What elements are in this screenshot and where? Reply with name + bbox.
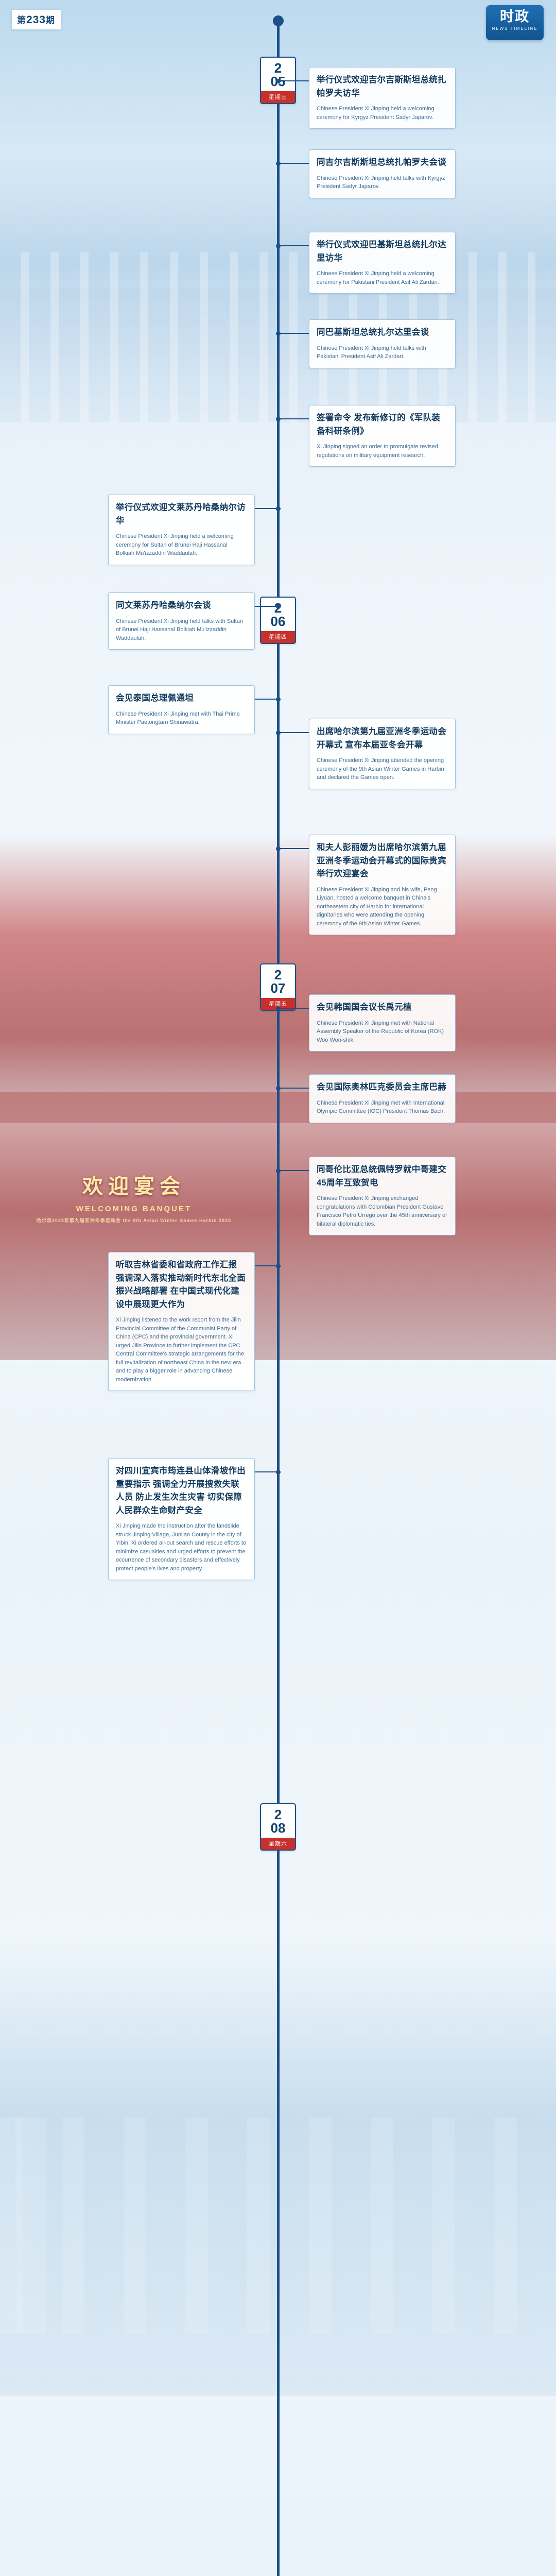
- event-title-en: Chinese President Xi Jinping held a welc…: [116, 532, 247, 558]
- event-card: 会见泰国总理佩通坦Chinese President Xi Jinping me…: [108, 685, 255, 734]
- event-connector-dot: [276, 161, 281, 166]
- event-card: 签署命令 发布新修订的《军队装备科研条例》Xi Jinping signed a…: [309, 405, 456, 467]
- event-connector-dot: [276, 846, 281, 851]
- issue-badge: 第233期: [11, 9, 62, 30]
- event-connector: [280, 1170, 309, 1171]
- event-title-cn: 同巴基斯坦总统扎尔达里会谈: [317, 326, 448, 340]
- event-connector-dot: [276, 417, 281, 421]
- event-connector-dot: [276, 331, 281, 336]
- event-title-cn: 同文莱苏丹哈桑纳尔会谈: [116, 599, 247, 613]
- banquet-title-cn: 欢迎宴会: [21, 1170, 247, 1199]
- banquet-overlay: 欢迎宴会 WELCOMING BANQUET 哈尔滨2025年第九届亚洲冬季运动…: [21, 1170, 247, 1225]
- event-connector-dot: [276, 1006, 281, 1011]
- event-card: 举行仪式欢迎吉尔吉斯斯坦总统扎帕罗夫访华Chinese President Xi…: [309, 67, 456, 129]
- event-card: 同巴基斯坦总统扎尔达里会谈Chinese President Xi Jinpin…: [309, 319, 456, 368]
- event-title-cn: 会见韩国国会议长禹元植: [317, 1001, 448, 1014]
- date-weekday: 星期三: [261, 91, 295, 103]
- banquet-title-en: WELCOMING BANQUET: [21, 1205, 247, 1213]
- event-connector: [280, 732, 309, 733]
- event-connector: [280, 1088, 309, 1089]
- issue-prefix: 第: [17, 15, 26, 25]
- event-connector-dot: [276, 244, 281, 248]
- event-connector-dot: [276, 79, 281, 83]
- event-title-en: Chinese President Xi Jinping held a welc…: [317, 105, 448, 122]
- date-day: 07: [261, 981, 295, 995]
- date-weekday: 星期六: [261, 1838, 295, 1850]
- event-title-cn: 和夫人彭丽媛为出席哈尔滨第九届亚洲冬季运动会开幕式的国际贵宾举行欢迎宴会: [317, 841, 448, 881]
- event-card: 会见国际奥林匹克委员会主席巴赫Chinese President Xi Jinp…: [309, 1074, 456, 1123]
- event-connector-dot: [276, 604, 281, 609]
- event-title-en: Xi Jinping made the instruction after th…: [116, 1522, 247, 1573]
- event-title-en: Chinese President Xi Jinping and his wif…: [317, 886, 448, 928]
- event-card: 听取吉林省委和省政府工作汇报 强调深入落实推动新时代东北全面振兴战略部署 在中国…: [108, 1252, 255, 1391]
- event-title-en: Chinese President Xi Jinping held talks …: [317, 344, 448, 361]
- event-connector: [280, 848, 309, 849]
- brand-logo: 时政 NEWS TIMELINE: [486, 5, 544, 40]
- event-title-cn: 出席哈尔滨第九届亚洲冬季运动会开幕式 宣布本届亚冬会开幕: [317, 725, 448, 752]
- event-card: 和夫人彭丽媛为出席哈尔滨第九届亚洲冬季运动会开幕式的国际贵宾举行欢迎宴会Chin…: [309, 835, 456, 935]
- event-connector-dot: [276, 506, 281, 511]
- brand-logo-title: 时政: [486, 9, 544, 24]
- event-connector: [280, 163, 309, 164]
- event-connector: [280, 245, 309, 246]
- event-title-en: Xi Jinping listened to the work report f…: [116, 1316, 247, 1384]
- timeline-line: [277, 19, 280, 2576]
- brand-logo-subtitle: NEWS TIMELINE: [486, 26, 544, 31]
- event-connector-dot: [276, 1470, 281, 1475]
- issue-number: 233: [26, 14, 46, 26]
- event-connector: [280, 418, 309, 419]
- event-title-en: Chinese President Xi Jinping held talks …: [116, 617, 247, 643]
- infographic-page: 欢迎宴会 WELCOMING BANQUET 哈尔滨2025年第九届亚洲冬季运动…: [0, 0, 556, 2576]
- event-title-cn: 同吉尔吉斯斯坦总统扎帕罗夫会谈: [317, 156, 448, 170]
- event-card: 举行仪式欢迎文莱苏丹哈桑纳尔访华Chinese President Xi Jin…: [108, 495, 255, 565]
- event-title-cn: 同哥伦比亚总统佩特罗就中哥建交45周年互致贺电: [317, 1163, 448, 1190]
- event-title-en: Xi Jinping signed an order to promulgate…: [317, 443, 448, 460]
- date-weekday: 星期四: [261, 631, 295, 643]
- event-connector: [280, 333, 309, 334]
- event-card: 同文莱苏丹哈桑纳尔会谈Chinese President Xi Jinping …: [108, 592, 255, 650]
- event-title-en: Chinese President Xi Jinping exchanged c…: [317, 1194, 448, 1228]
- date-day: 06: [261, 615, 295, 629]
- event-title-cn: 签署命令 发布新修订的《军队装备科研条例》: [317, 412, 448, 438]
- banquet-subtitle: 哈尔滨2025年第九届亚洲冬季运动会 the 9th Asian Winter …: [21, 1217, 247, 1225]
- event-connector-dot: [276, 1168, 281, 1173]
- event-title-cn: 会见泰国总理佩通坦: [116, 692, 247, 705]
- event-connector-dot: [276, 1264, 281, 1268]
- date-month: 2: [261, 968, 295, 981]
- event-card: 同吉尔吉斯斯坦总统扎帕罗夫会谈Chinese President Xi Jinp…: [309, 149, 456, 198]
- event-card: 同哥伦比亚总统佩特罗就中哥建交45周年互致贺电Chinese President…: [309, 1157, 456, 1235]
- date-day: 08: [261, 1821, 295, 1835]
- event-title-cn: 听取吉林省委和省政府工作汇报 强调深入落实推动新时代东北全面振兴战略部署 在中国…: [116, 1259, 247, 1311]
- timeline-date-chip: 208星期六: [260, 1803, 296, 1851]
- event-card: 会见韩国国会议长禹元植Chinese President Xi Jinping …: [309, 994, 456, 1052]
- event-title-cn: 举行仪式欢迎吉尔吉斯斯坦总统扎帕罗夫访华: [317, 74, 448, 100]
- timeline-date-chip: 207星期五: [260, 963, 296, 1011]
- event-connector: [280, 80, 309, 81]
- event-card: 对四川宜宾市筠连县山体滑坡作出重要指示 强调全力开展搜救失联人员 防止发生次生灾…: [108, 1458, 255, 1580]
- event-connector-dot: [276, 697, 281, 702]
- event-card: 举行仪式欢迎巴基斯坦总统扎尔达里访华Chinese President Xi J…: [309, 232, 456, 294]
- event-title-cn: 举行仪式欢迎文莱苏丹哈桑纳尔访华: [116, 501, 247, 528]
- event-title-en: Chinese President Xi Jinping attended th…: [317, 756, 448, 782]
- event-card: 出席哈尔滨第九届亚洲冬季运动会开幕式 宣布本届亚冬会开幕Chinese Pres…: [309, 719, 456, 789]
- event-title-en: Chinese President Xi Jinping met with In…: [317, 1099, 448, 1116]
- event-connector: [280, 1008, 309, 1009]
- event-title-cn: 举行仪式欢迎巴基斯坦总统扎尔达里访华: [317, 239, 448, 265]
- event-title-cn: 对四川宜宾市筠连县山体滑坡作出重要指示 强调全力开展搜救失联人员 防止发生次生灾…: [116, 1465, 247, 1517]
- timeline-date-chip: 206星期四: [260, 597, 296, 644]
- date-month: 2: [261, 61, 295, 75]
- event-title-en: Chinese President Xi Jinping held talks …: [317, 174, 448, 191]
- event-connector-dot: [276, 731, 281, 735]
- event-title-en: Chinese President Xi Jinping met with Na…: [317, 1019, 448, 1045]
- event-title-en: Chinese President Xi Jinping met with Th…: [116, 710, 247, 727]
- event-title-cn: 会见国际奥林匹克委员会主席巴赫: [317, 1081, 448, 1094]
- issue-suffix: 期: [46, 15, 55, 25]
- date-month: 2: [261, 1808, 295, 1821]
- event-connector-dot: [276, 1086, 281, 1091]
- event-title-en: Chinese President Xi Jinping held a welc…: [317, 269, 448, 286]
